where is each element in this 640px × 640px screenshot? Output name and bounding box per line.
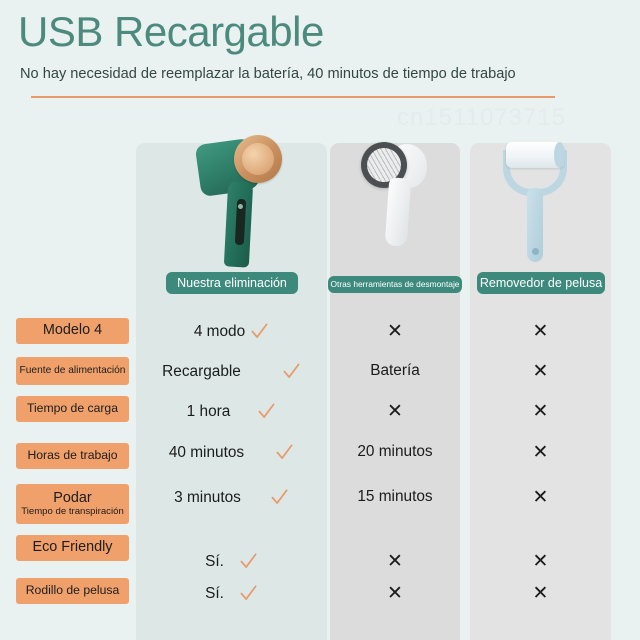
row-label-text: Tiempo de carga	[27, 402, 118, 415]
table-cell: ✕	[330, 402, 460, 422]
table-cell: ✕	[330, 584, 460, 604]
table-cell: Batería	[330, 362, 460, 380]
cross-icon: ✕	[387, 583, 403, 604]
cell-value: 1 hora	[187, 403, 231, 421]
row-label-text: Podar	[53, 491, 91, 507]
row-label: Tiempo de carga	[16, 396, 129, 422]
cross-icon: ✕	[533, 551, 549, 572]
cell-value: 15 minutos	[357, 488, 432, 506]
cell-value: Sí.	[205, 585, 224, 603]
table-cell: ✕	[470, 443, 611, 463]
table-row: Tiempo de carga1 hora✕✕	[0, 396, 640, 434]
blue-lint-roller-icon	[500, 130, 570, 265]
cross-icon: ✕	[533, 361, 549, 382]
table-cell: ✕	[470, 488, 611, 508]
cross-icon: ✕	[533, 401, 549, 422]
white-fabric-shaver-body	[385, 177, 412, 246]
check-icon	[250, 322, 269, 341]
table-cell: ✕	[330, 552, 460, 572]
table-cell: 15 minutos	[330, 488, 460, 506]
cell-value: 20 minutos	[357, 443, 432, 461]
table-row: Rodillo de pelusaSí.✕✕	[0, 578, 640, 616]
check-icon	[239, 552, 258, 571]
table-cell: 4 modo	[136, 322, 327, 341]
blue-lint-roller-hang-hole	[532, 248, 539, 255]
cross-icon: ✕	[387, 551, 403, 572]
row-label: Horas de trabajo	[16, 443, 129, 469]
row-label-text: Horas de trabajo	[27, 449, 117, 462]
cross-icon: ✕	[387, 401, 403, 422]
watermark-text: cn1511073715	[397, 104, 566, 132]
table-row: Fuente de alimentaciónRecargableBatería✕	[0, 357, 640, 395]
page-title: USB Recargable	[18, 8, 324, 56]
row-label-text: Fuente de alimentación	[20, 365, 126, 376]
table-cell: ✕	[470, 322, 611, 342]
table-cell: 40 minutos	[136, 443, 327, 462]
column-header-0: Nuestra eliminación	[166, 272, 298, 294]
row-label-text: Modelo 4	[43, 323, 102, 339]
row-label: Modelo 4	[16, 318, 129, 344]
row-label-text: Rodillo de pelusa	[26, 584, 120, 597]
cell-value: Recargable	[162, 363, 241, 381]
table-cell: 20 minutos	[330, 443, 460, 461]
cell-value: Sí.	[205, 553, 224, 571]
white-fabric-shaver-icon	[357, 140, 435, 248]
check-icon	[239, 584, 258, 603]
blue-lint-roller-cap	[554, 142, 565, 168]
cell-value: 3 minutos	[174, 489, 241, 507]
table-cell: ✕	[470, 552, 611, 572]
table-cell: Sí.	[136, 584, 327, 603]
cross-icon: ✕	[533, 442, 549, 463]
table-row: Eco FriendlySí.✕✕	[0, 535, 640, 573]
row-label: PodarTiempo de transpiración	[16, 484, 129, 524]
header-divider	[31, 96, 555, 98]
row-label: Eco Friendly	[16, 535, 129, 561]
table-row: PodarTiempo de transpiración3 minutos15 …	[0, 484, 640, 522]
table-row: Horas de trabajo40 minutos20 minutos✕	[0, 443, 640, 481]
green-lint-remover-icon	[196, 127, 282, 267]
row-label-subtext: Tiempo de transpiración	[21, 506, 124, 517]
cross-icon: ✕	[533, 487, 549, 508]
cell-value: 4 modo	[194, 323, 245, 341]
row-label: Rodillo de pelusa	[16, 578, 129, 604]
table-row: Modelo 44 modo✕✕	[0, 318, 640, 356]
cell-value: Batería	[370, 362, 420, 380]
row-label-text: Eco Friendly	[33, 540, 113, 556]
cross-icon: ✕	[533, 321, 549, 342]
cell-value: 40 minutos	[169, 444, 244, 462]
check-icon	[275, 443, 294, 462]
table-cell: ✕	[470, 584, 611, 604]
check-icon	[282, 362, 301, 381]
table-cell: 3 minutos	[136, 488, 327, 507]
page-subtitle: No hay necesidad de reemplazar la baterí…	[20, 66, 516, 82]
table-cell: ✕	[470, 362, 611, 382]
column-header-2: Removedor de pelusa	[477, 272, 605, 294]
column-header-1: Otras herramientas de desmontaje	[328, 276, 462, 293]
table-cell: ✕	[330, 322, 460, 342]
table-cell: Sí.	[136, 552, 327, 571]
page-header: USB Recargable No hay necesidad de reemp…	[0, 0, 640, 112]
table-cell: 1 hora	[136, 402, 327, 421]
check-icon	[270, 488, 289, 507]
table-cell: ✕	[470, 402, 611, 422]
cross-icon: ✕	[533, 583, 549, 604]
row-label: Fuente de alimentación	[16, 357, 129, 385]
cross-icon: ✕	[387, 321, 403, 342]
table-cell: Recargable	[136, 362, 327, 381]
check-icon	[257, 402, 276, 421]
